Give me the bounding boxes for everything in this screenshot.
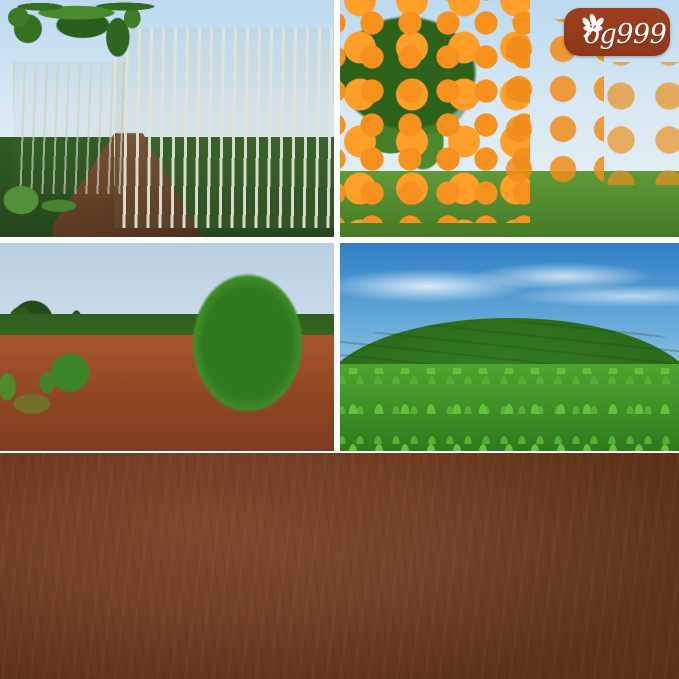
- photo-clove-sapling-field: [0, 243, 334, 451]
- forest-canopy: [0, 0, 334, 156]
- small-sapling: [40, 343, 100, 410]
- product-infographic-poster: og999: [0, 0, 679, 679]
- brand-logo-badge[interactable]: og999: [564, 8, 670, 56]
- photo-tea-plantation: [340, 243, 679, 451]
- tea-leaves: [340, 368, 679, 451]
- info-banner: HOW WE GROW OUR INGREDIENTS We grow cinn…: [0, 453, 679, 679]
- photo-cinnamon-plantation: [0, 0, 334, 237]
- photo-grid: og999: [0, 0, 679, 453]
- undergrowth: [0, 166, 127, 237]
- tea-plantation-scene: [340, 243, 679, 451]
- clove-field-scene: [0, 243, 334, 451]
- clove-sapling: [174, 251, 334, 442]
- cinnamon-scene: [0, 0, 334, 237]
- flower-icon: [578, 13, 608, 43]
- photo-orange-orchard: og999: [340, 0, 679, 237]
